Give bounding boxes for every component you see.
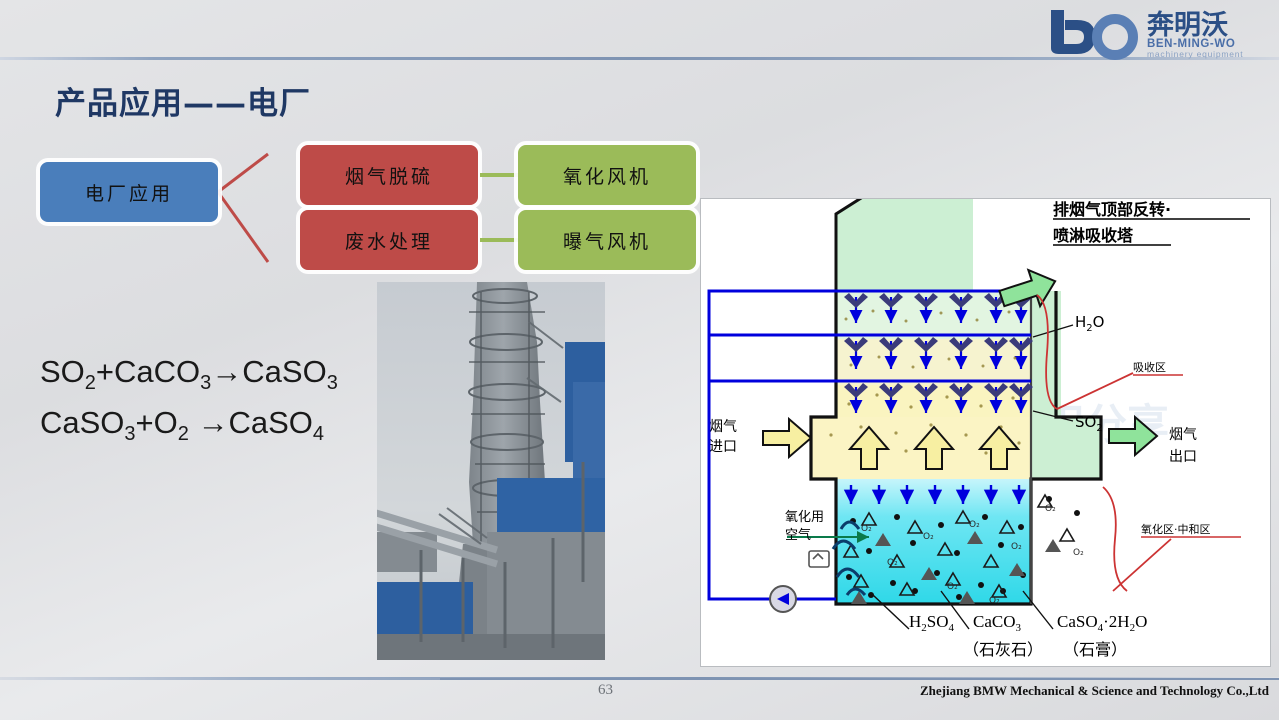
- flow-node-product-0[interactable]: 氧化风机: [518, 145, 696, 205]
- oxidation-zone-label: 氧化区·中和区: [1141, 522, 1211, 536]
- eq0-p1: 2: [85, 372, 96, 394]
- svg-text:O₂: O₂: [947, 582, 958, 592]
- diagram-title-line1: 排烟气顶部反转·: [1053, 200, 1171, 219]
- absorption-zone-label: 吸收区: [1133, 360, 1166, 374]
- svg-text:O₂: O₂: [923, 532, 934, 542]
- flow-node-process-0[interactable]: 烟气脱硫: [300, 145, 478, 205]
- fgd-process-diagram: 知识分享 排烟气顶部反转· 喷淋吸收塔: [700, 198, 1271, 667]
- outlet-label-line1: 烟气: [1169, 427, 1197, 443]
- eq0-p5: 3: [327, 372, 338, 394]
- oxidation-air-line1: 氧化用: [785, 510, 824, 525]
- svg-text:O₂: O₂: [1011, 542, 1022, 552]
- eq1-p5: 4: [313, 423, 324, 445]
- inlet-label-line1: 烟气: [709, 419, 737, 435]
- svg-text:O₂: O₂: [969, 520, 980, 530]
- slide-root: 奔明沃 BEN-MING-WO machinery equipment 产品应用…: [0, 0, 1279, 720]
- eq0-p2: +CaCO: [96, 354, 200, 389]
- species-1-formula: CaCO3: [973, 612, 1022, 634]
- eq1-p2: +O: [136, 405, 178, 440]
- footer-company-name: Zhejiang BMW Mechanical & Science and Te…: [920, 683, 1269, 699]
- inlet-label-line2: 进口: [709, 439, 737, 455]
- rising-gas-arrows: [850, 427, 1018, 469]
- species-2-note: （石膏）: [1063, 640, 1127, 659]
- logo-chinese-text: 奔明沃: [1147, 10, 1228, 41]
- page-number: 63: [598, 682, 613, 699]
- logo-bo-mark: [1051, 10, 1133, 55]
- equation-row-1: CaSO3+O2 →CaSO4: [40, 403, 338, 454]
- svg-text:奔明沃: 奔明沃: [1147, 10, 1228, 41]
- species-0-formula: H2SO4: [909, 612, 955, 634]
- eq1-p1: 3: [124, 423, 135, 445]
- flow-node-product-0-label: 氧化风机: [563, 162, 651, 189]
- flow-node-product-1-label: 曝气风机: [563, 227, 651, 254]
- svg-text:O₂: O₂: [989, 596, 1000, 606]
- svg-text:O₂: O₂: [1073, 548, 1084, 558]
- eq1-p4: →CaSO: [189, 405, 313, 440]
- agitator-icon: [809, 551, 829, 567]
- flow-node-root-label: 电厂应用: [85, 179, 173, 206]
- footer-divider-accent: [440, 678, 1279, 680]
- eq0-p0: SO: [40, 354, 85, 389]
- eq1-p3: 2: [178, 423, 189, 445]
- outlet-label-line2: 出口: [1169, 449, 1197, 465]
- flow-chart: 电厂应用 烟气脱硫 废水处理 氧化风机 曝气风机: [40, 140, 680, 280]
- flow-node-process-1-label: 废水处理: [345, 227, 433, 254]
- company-logo: 奔明沃 BEN-MING-WO machinery equipment: [1043, 4, 1265, 60]
- plant-photo: [377, 282, 605, 660]
- svg-text:O₂: O₂: [887, 558, 898, 568]
- chemical-equations: SO2+CaCO3→CaSO3 CaSO3+O2 →CaSO4: [40, 352, 338, 454]
- svg-text:O₂: O₂: [1045, 504, 1056, 514]
- flow-node-product-1[interactable]: 曝气风机: [518, 210, 696, 270]
- page-title: 产品应用——电厂: [55, 78, 311, 123]
- flow-node-process-1[interactable]: 废水处理: [300, 210, 478, 270]
- flow-link-1: [480, 238, 518, 242]
- eq0-p3: 3: [200, 372, 211, 394]
- svg-text:machinery equipment: machinery equipment: [1147, 49, 1243, 59]
- eq1-p0: CaSO: [40, 405, 124, 440]
- eq0-p4: →CaSO: [211, 354, 326, 389]
- svg-text:O₂: O₂: [861, 524, 872, 534]
- flow-link-0: [480, 173, 518, 177]
- diagram-title-line2: 喷淋吸收塔: [1053, 226, 1134, 245]
- oxidation-air-line2: 空气: [785, 527, 811, 543]
- flow-node-process-0-label: 烟气脱硫: [345, 162, 433, 189]
- flow-node-root[interactable]: 电厂应用: [40, 162, 218, 222]
- equation-row-0: SO2+CaCO3→CaSO3: [40, 352, 338, 403]
- species-1-note: （石灰石）: [963, 640, 1043, 659]
